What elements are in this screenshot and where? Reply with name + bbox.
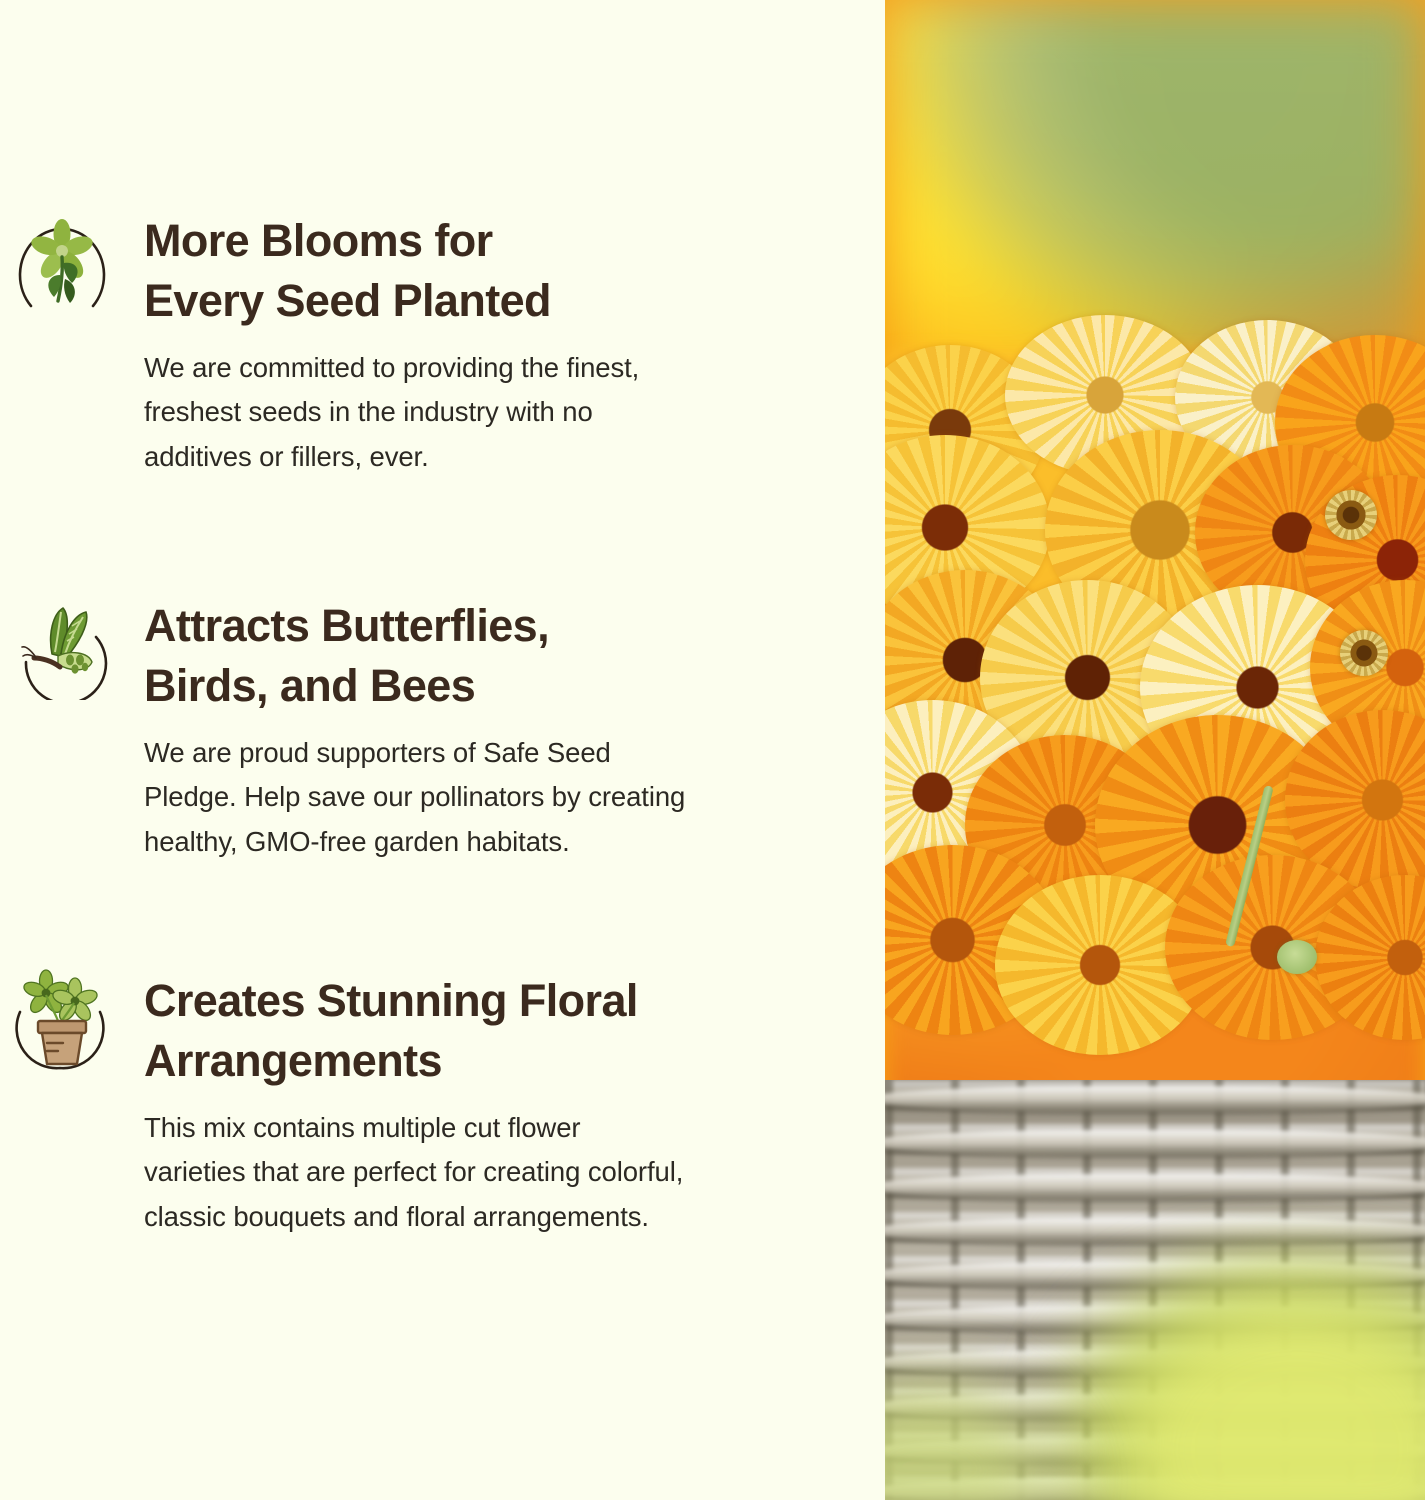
feature-text-block: Creates Stunning Floral Arrangements Thi… bbox=[144, 965, 683, 1239]
calendula-bud bbox=[1340, 630, 1388, 676]
calendula-bud bbox=[1325, 490, 1377, 540]
features-text-column: More Blooms for Every Seed Planted We ar… bbox=[0, 0, 885, 1500]
feature-text-block: More Blooms for Every Seed Planted We ar… bbox=[144, 205, 639, 479]
potted-plant-in-circle-icon bbox=[8, 965, 116, 1075]
feature-description: We are committed to providing the finest… bbox=[144, 346, 639, 480]
foliage-blur-right bbox=[1045, 1240, 1425, 1500]
calendula-bloom-cluster bbox=[885, 355, 1425, 1155]
product-feature-panel: More Blooms for Every Seed Planted We ar… bbox=[0, 0, 1425, 1500]
flower-calyx bbox=[1277, 940, 1317, 974]
wicker-basket bbox=[885, 1080, 1425, 1500]
feature-title: Attracts Butterflies, Birds, and Bees bbox=[144, 596, 685, 717]
flower-in-circle-icon bbox=[8, 205, 116, 315]
feature-description: We are proud supporters of Safe Seed Ple… bbox=[144, 731, 685, 865]
feature-title: Creates Stunning Floral Arrangements bbox=[144, 971, 683, 1092]
butterfly-in-circle-icon bbox=[8, 590, 116, 700]
feature-description: This mix contains multiple cut flower va… bbox=[144, 1106, 683, 1240]
calendula-flowers-in-wicker-basket-photo bbox=[885, 0, 1425, 1500]
feature-item-floral-arrangements: Creates Stunning Floral Arrangements Thi… bbox=[8, 965, 683, 1239]
feature-item-more-blooms: More Blooms for Every Seed Planted We ar… bbox=[8, 205, 639, 479]
feature-text-block: Attracts Butterflies, Birds, and Bees We… bbox=[144, 590, 685, 864]
feature-title: More Blooms for Every Seed Planted bbox=[144, 211, 639, 332]
foliage-blur-left bbox=[885, 1360, 1085, 1500]
feature-item-attracts-pollinators: Attracts Butterflies, Birds, and Bees We… bbox=[8, 590, 685, 864]
